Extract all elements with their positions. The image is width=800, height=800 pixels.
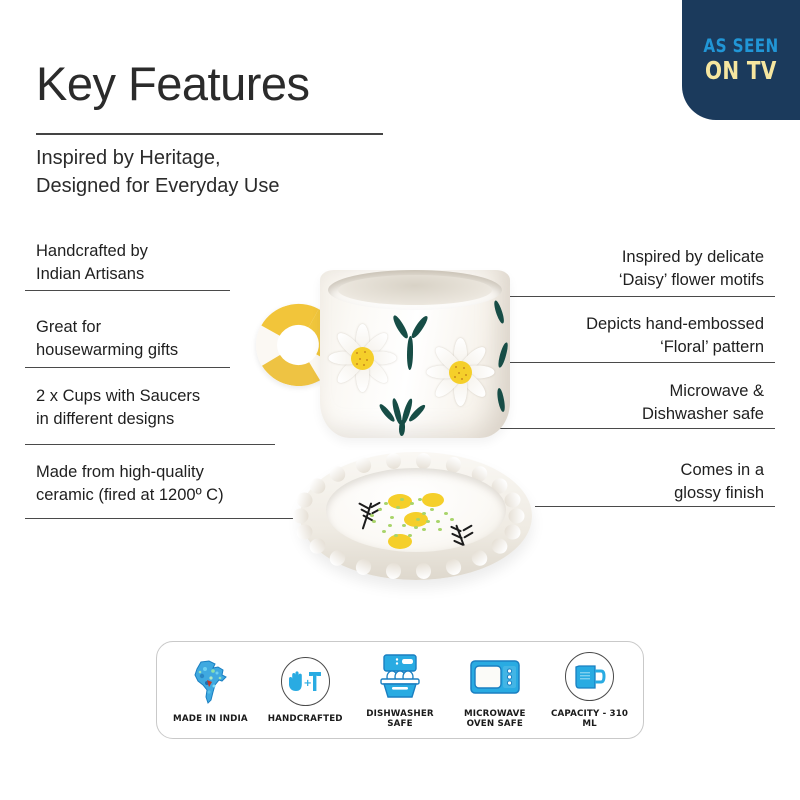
saucer-dot-2 (422, 493, 444, 507)
badge-label-capacity: CAPACITY - 310 ML (544, 709, 636, 730)
mug-photo (238, 258, 518, 458)
saucer-green-dot (396, 506, 400, 509)
saucer-green-dot (436, 520, 440, 523)
saucer-photo (300, 452, 532, 580)
saucer-green-dot (418, 498, 422, 501)
badge-line-2: ON TV (705, 58, 777, 83)
badge-handcrafted: + HANDCRAFTED (259, 656, 351, 724)
page-title: Key Features (36, 59, 310, 108)
mug-interior (338, 275, 492, 305)
badge-capacity: CAPACITY - 310 ML (544, 651, 636, 730)
dishwasher-icon (375, 651, 425, 703)
saucer-green-dot (384, 502, 388, 505)
saucer-flute (293, 509, 309, 524)
saucer-green-dot (414, 526, 418, 529)
badge-label-microwave-line-1: MICROWAVE (464, 709, 526, 719)
badge-dishwasher-safe: DISHWASHER SAFE (354, 651, 446, 730)
badge-label-microwave-line-2: OVEN SAFE (467, 719, 523, 729)
saucer-green-dot (422, 512, 426, 515)
saucer-green-dot (382, 530, 386, 533)
badge-label-made-in-india: MADE IN INDIA (173, 714, 248, 724)
india-map-icon (189, 656, 231, 708)
as-seen-on-tv-badge: AS SEEN ON TV (682, 0, 800, 120)
title-underline (36, 133, 383, 135)
saucer-green-dot (408, 534, 412, 537)
microwave-icon (469, 651, 521, 703)
saucer-green-dot (438, 528, 442, 531)
daisy-center-2 (449, 361, 472, 384)
saucer-green-dot (400, 498, 404, 501)
daisy-center-1 (351, 347, 374, 370)
page-subtitle: Inspired by Heritage, Designed for Every… (36, 144, 279, 201)
trust-badge-strip: MADE IN INDIA + HANDCRAFTED (156, 641, 644, 739)
saucer-green-dot (416, 518, 420, 521)
saucer-green-dot (402, 524, 406, 527)
saucer-green-dot (422, 528, 426, 531)
badge-made-in-india: MADE IN INDIA (164, 656, 256, 724)
saucer-green-dot (370, 514, 374, 517)
infographic-page: AS SEEN ON TV Key Features Inspired by H… (0, 0, 800, 800)
mug-capacity-icon (565, 651, 614, 703)
svg-text:+: + (304, 678, 312, 689)
badge-label-dishwasher: DISHWASHER SAFE (354, 709, 446, 730)
saucer-green-dot (410, 502, 414, 505)
saucer-green-dot (426, 520, 430, 523)
saucer-green-dot (394, 534, 398, 537)
subtitle-line-1: Inspired by Heritage, (36, 144, 279, 172)
saucer-dot-1 (388, 494, 412, 509)
saucer-flute (509, 509, 525, 524)
badge-label-handcrafted: HANDCRAFTED (268, 714, 343, 724)
saucer-green-dot (444, 512, 448, 515)
saucer-green-dot (450, 518, 454, 521)
badge-microwave-safe: MICROWAVE OVEN SAFE (449, 651, 541, 730)
hand-hammer-icon: + (281, 656, 330, 708)
badge-line-1: AS SEEN (703, 37, 778, 56)
product-image (0, 240, 800, 620)
saucer-green-dot (430, 508, 434, 511)
badge-label-microwave: MICROWAVE OVEN SAFE (464, 709, 526, 730)
saucer-green-dot (388, 524, 392, 527)
saucer-green-dot (390, 516, 394, 519)
saucer-green-dot (378, 508, 382, 511)
saucer-face (326, 468, 506, 552)
subtitle-line-2: Designed for Everyday Use (36, 172, 279, 200)
saucer-green-dot (372, 520, 376, 523)
